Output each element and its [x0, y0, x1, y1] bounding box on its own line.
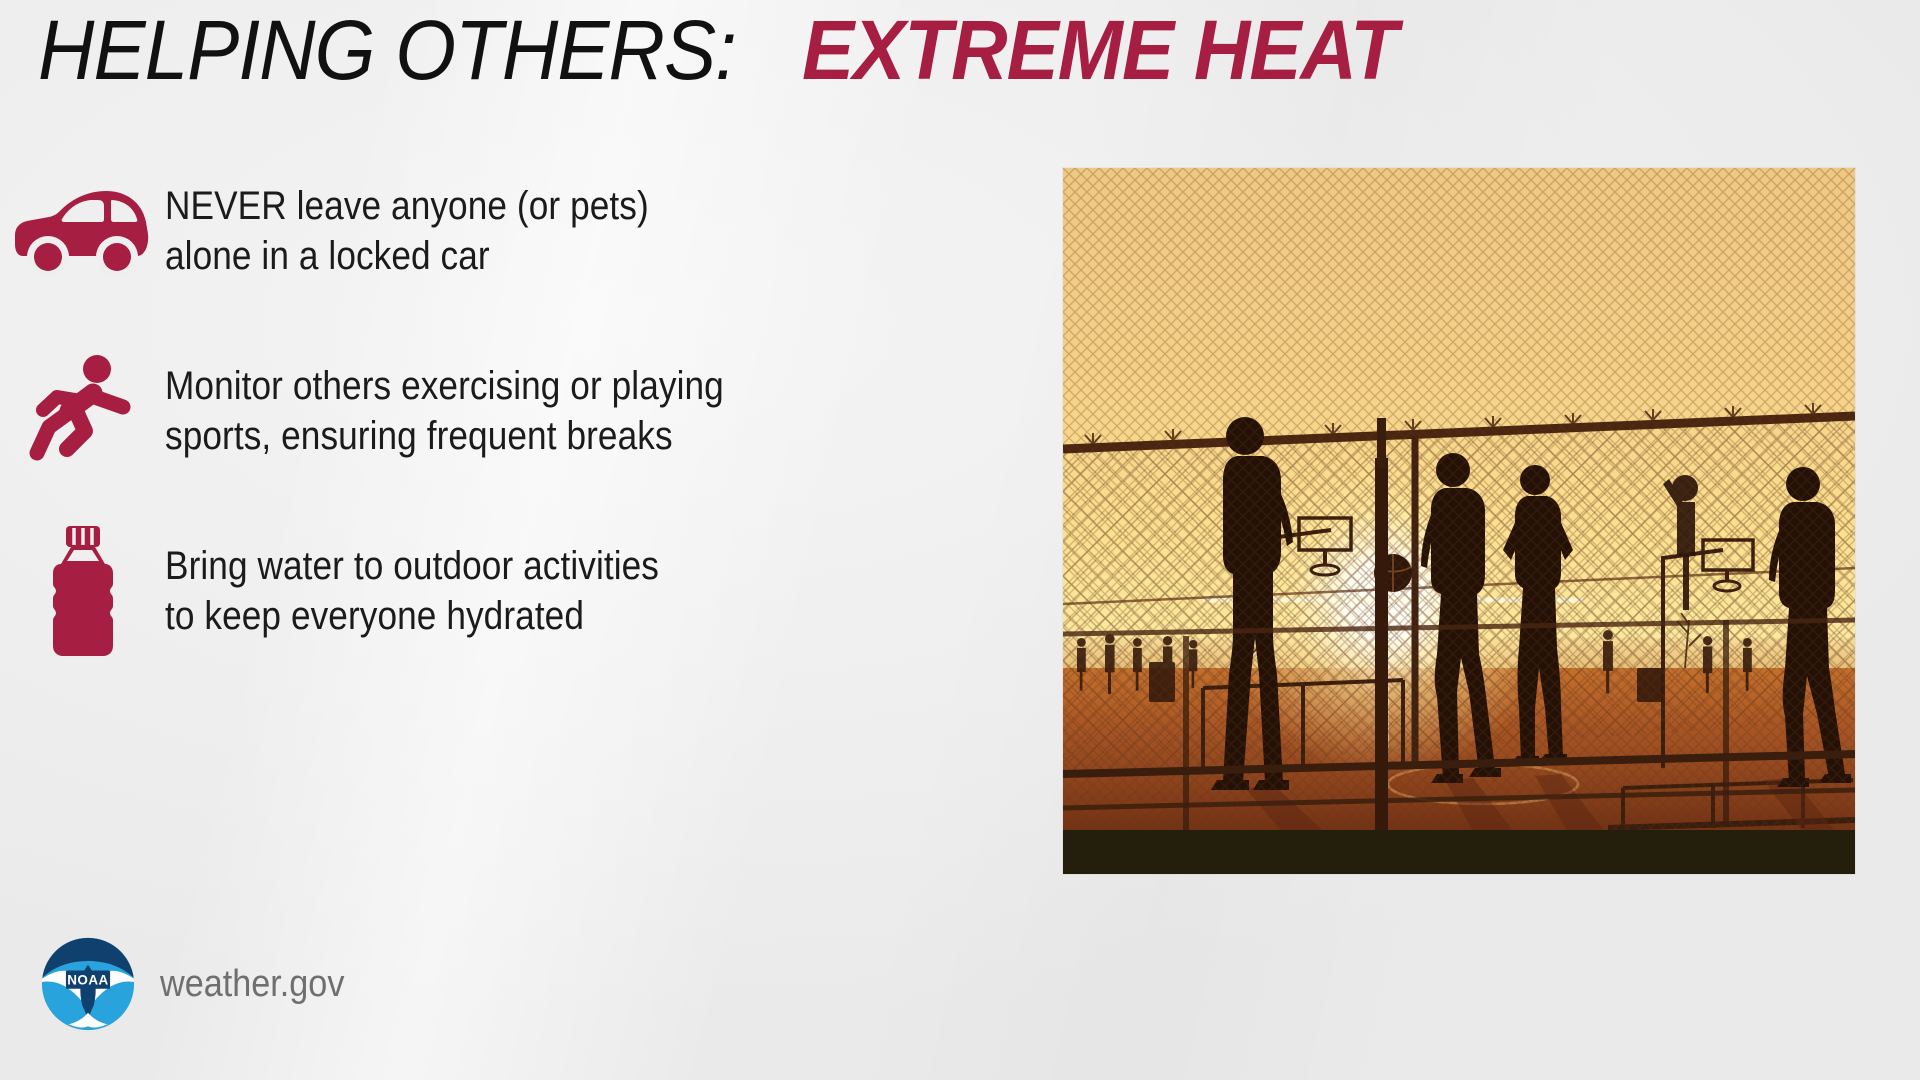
car-icon — [0, 186, 165, 278]
noaa-logo: NOAA — [40, 936, 136, 1032]
noaa-wordmark: NOAA — [67, 972, 109, 987]
water-bottle-icon — [0, 526, 165, 658]
sunset-basketball-court-photo — [1063, 168, 1855, 874]
page-title-accent: EXTREME HEAT — [802, 8, 1397, 92]
list-item: Bring water to outdoor activities to kee… — [0, 528, 1020, 656]
list-item-label: NEVER leave anyone (or pets) alone in a … — [165, 182, 649, 281]
runner-icon — [0, 353, 165, 471]
footer: NOAA weather.gov — [40, 936, 365, 1032]
tips-list: NEVER leave anyone (or pets) alone in a … — [0, 168, 1020, 708]
weather-gov-label: weather.gov — [160, 963, 344, 1006]
list-item: Monitor others exercising or playing spo… — [0, 348, 1020, 476]
page-title-primary: HELPING OTHERS: — [38, 8, 736, 92]
page-title: HELPING OTHERS:EXTREME HEAT — [38, 8, 1442, 92]
list-item-label: Bring water to outdoor activities to kee… — [165, 542, 659, 641]
list-item: NEVER leave anyone (or pets) alone in a … — [0, 168, 1020, 296]
list-item-label: Monitor others exercising or playing spo… — [165, 362, 724, 461]
